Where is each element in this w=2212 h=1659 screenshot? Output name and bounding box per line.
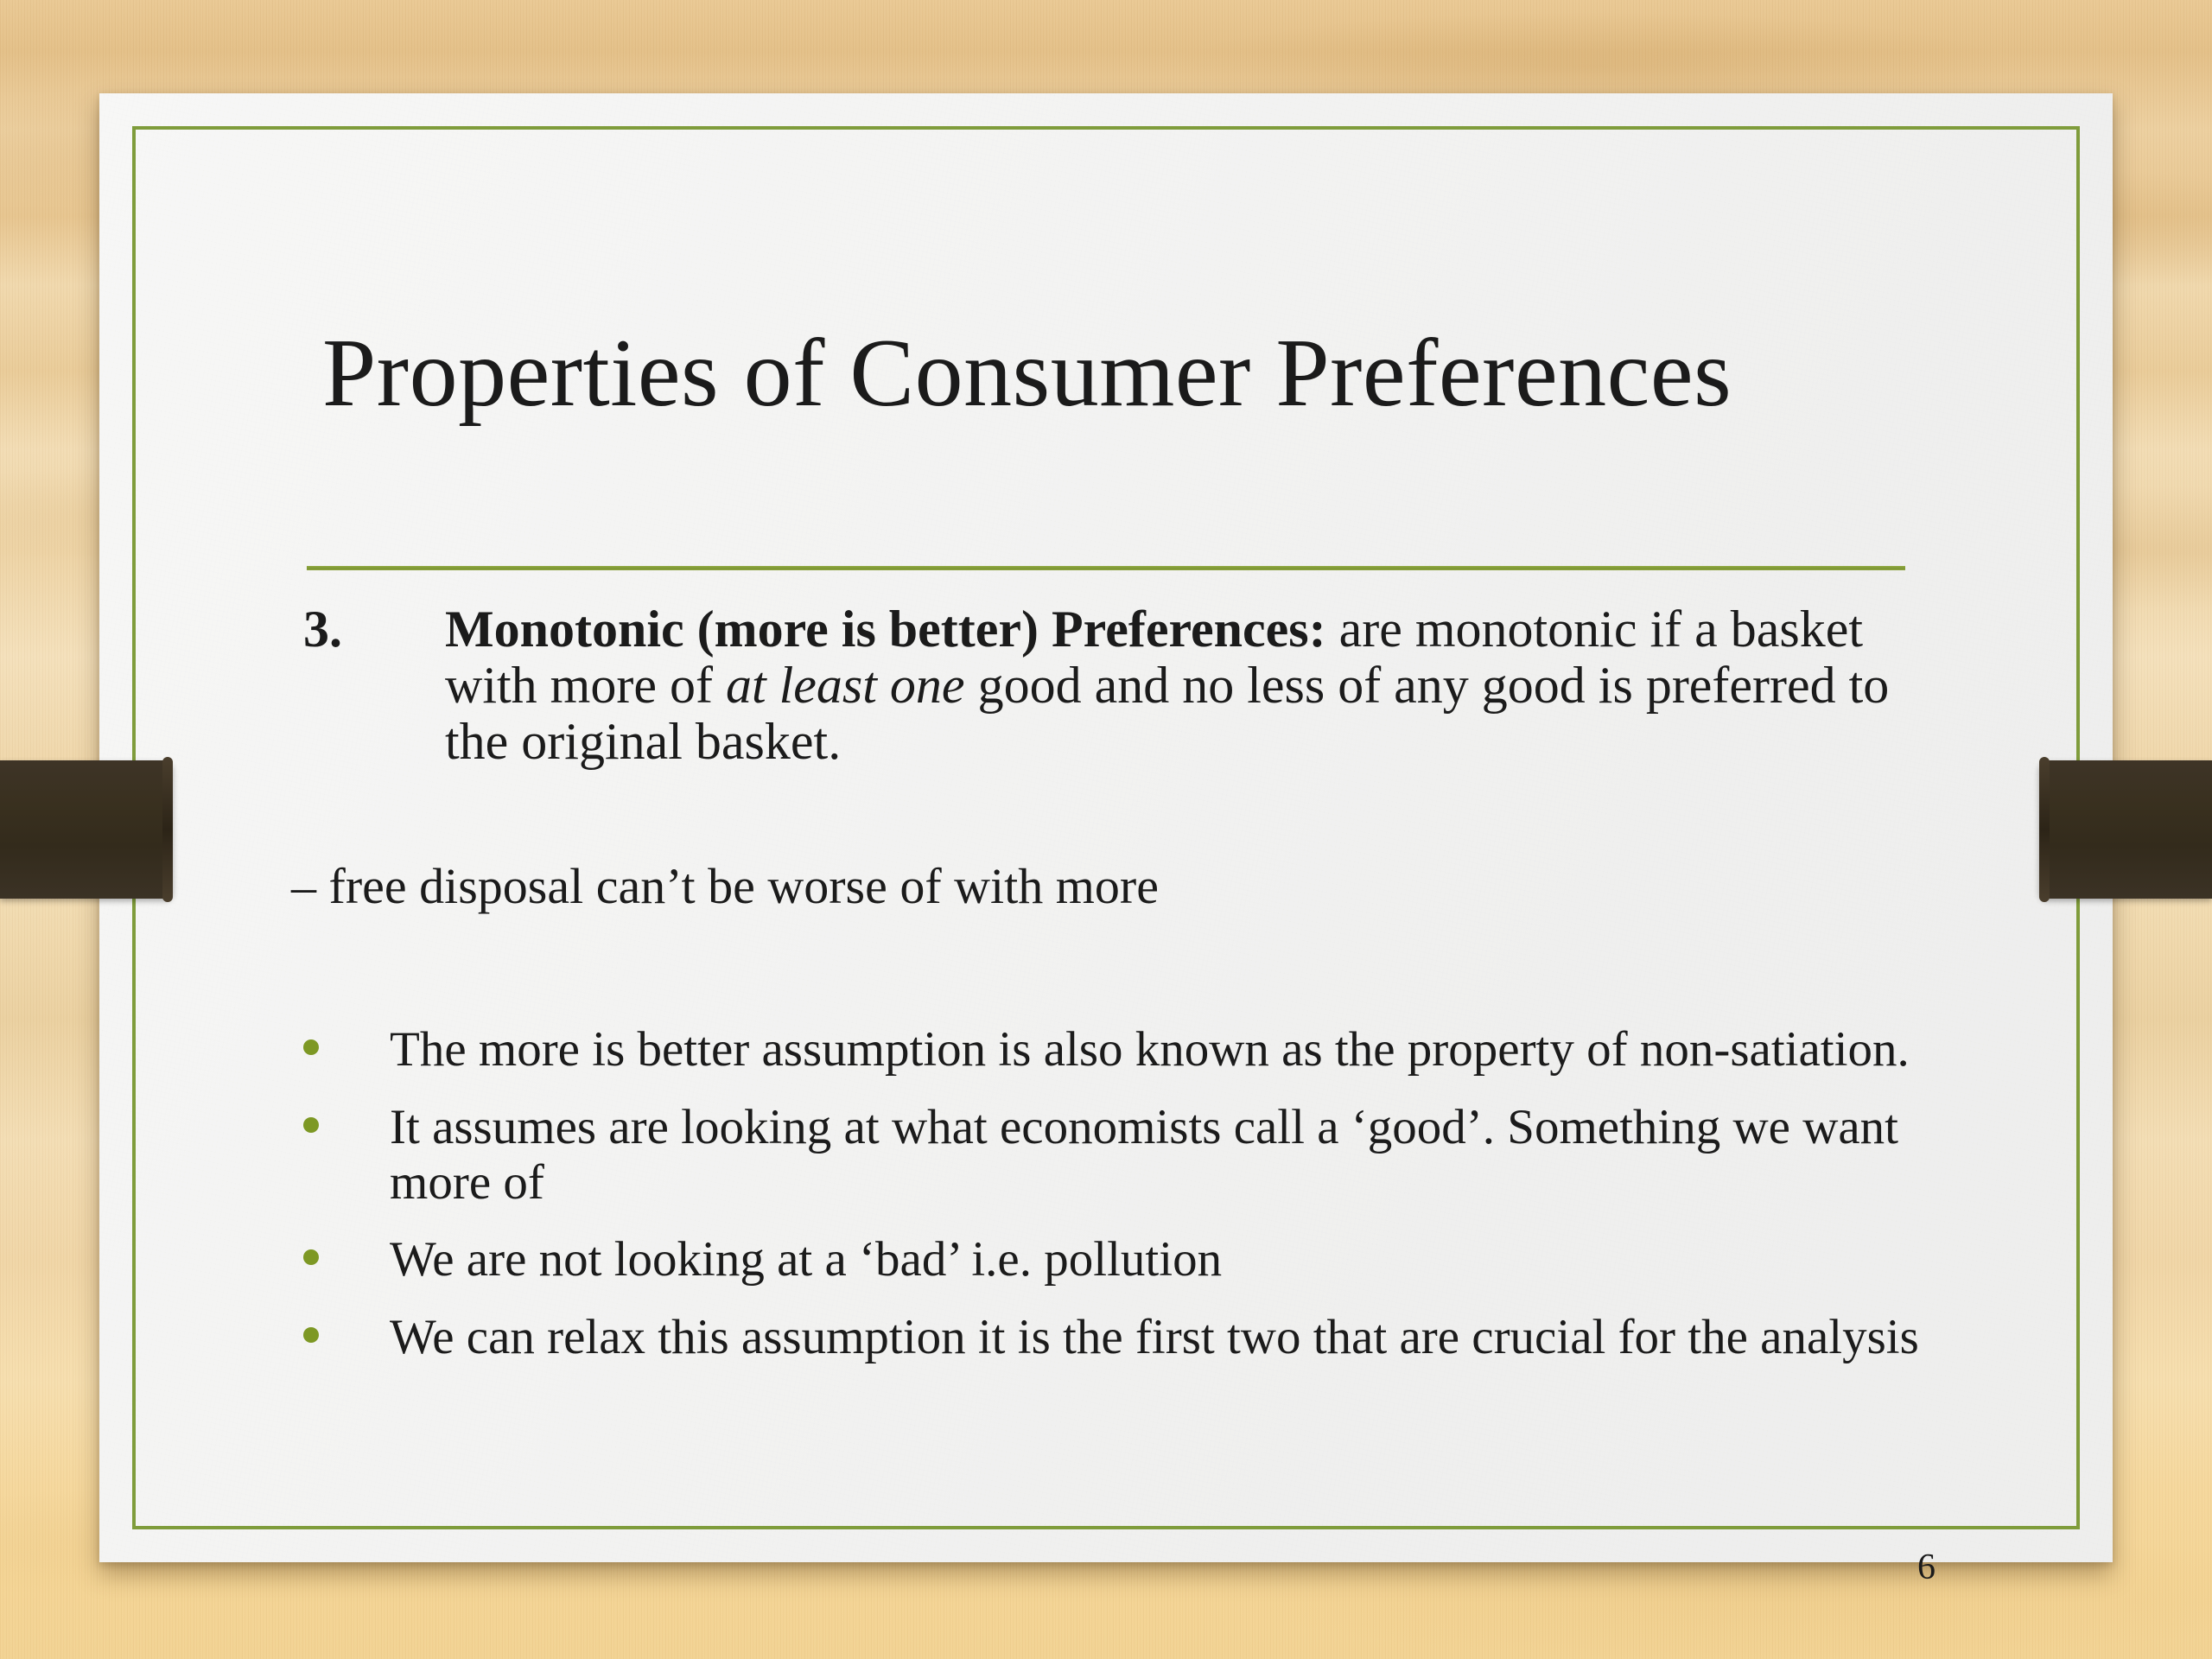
- bullet-list: The more is better assumption is also kn…: [303, 1022, 1936, 1388]
- numbered-list-item-3: 3. Monotonic (more is better) Preference…: [303, 601, 1928, 770]
- slide-card: Properties of Consumer Preferences 3. Mo…: [99, 93, 2113, 1562]
- bullet-text: The more is better assumption is also kn…: [390, 1022, 1936, 1077]
- title-divider: [307, 566, 1905, 570]
- page-number: 6: [1917, 1547, 1935, 1588]
- binder-tab-right: [2039, 760, 2212, 899]
- bullet-dot-cell: [303, 1100, 390, 1133]
- bullet-dot-cell: [303, 1310, 390, 1343]
- bullet-dot-icon: [303, 1117, 319, 1133]
- list-item: It assumes are looking at what economist…: [303, 1100, 1936, 1211]
- list-item: The more is better assumption is also kn…: [303, 1022, 1936, 1077]
- bullet-text: We can relax this assumption it is the f…: [390, 1310, 1936, 1365]
- numbered-item-emphasis: at least one: [726, 657, 965, 714]
- list-item: We are not looking at a ‘bad’ i.e. pollu…: [303, 1232, 1936, 1287]
- bullet-dot-icon: [303, 1249, 319, 1265]
- bullet-text: We are not looking at a ‘bad’ i.e. pollu…: [390, 1232, 1936, 1287]
- bullet-dot-icon: [303, 1327, 319, 1343]
- dash-note: – free disposal can’t be worse of with m…: [291, 859, 1933, 914]
- bullet-dot-cell: [303, 1232, 390, 1265]
- bullet-text: It assumes are looking at what economist…: [390, 1100, 1936, 1211]
- numbered-item-bold-lead: Monotonic (more is better) Preferences:: [445, 601, 1326, 658]
- bullet-dot-cell: [303, 1022, 390, 1055]
- binder-tab-left: [0, 760, 173, 899]
- numbered-item-text: Monotonic (more is better) Preferences: …: [445, 601, 1928, 770]
- slide-content: Properties of Consumer Preferences 3. Mo…: [99, 93, 2113, 1562]
- list-number-marker: 3.: [303, 601, 445, 658]
- page-title: Properties of Consumer Preferences: [322, 325, 1947, 422]
- list-item: We can relax this assumption it is the f…: [303, 1310, 1936, 1365]
- bullet-dot-icon: [303, 1039, 319, 1055]
- slide-stage: Properties of Consumer Preferences 3. Mo…: [0, 0, 2212, 1659]
